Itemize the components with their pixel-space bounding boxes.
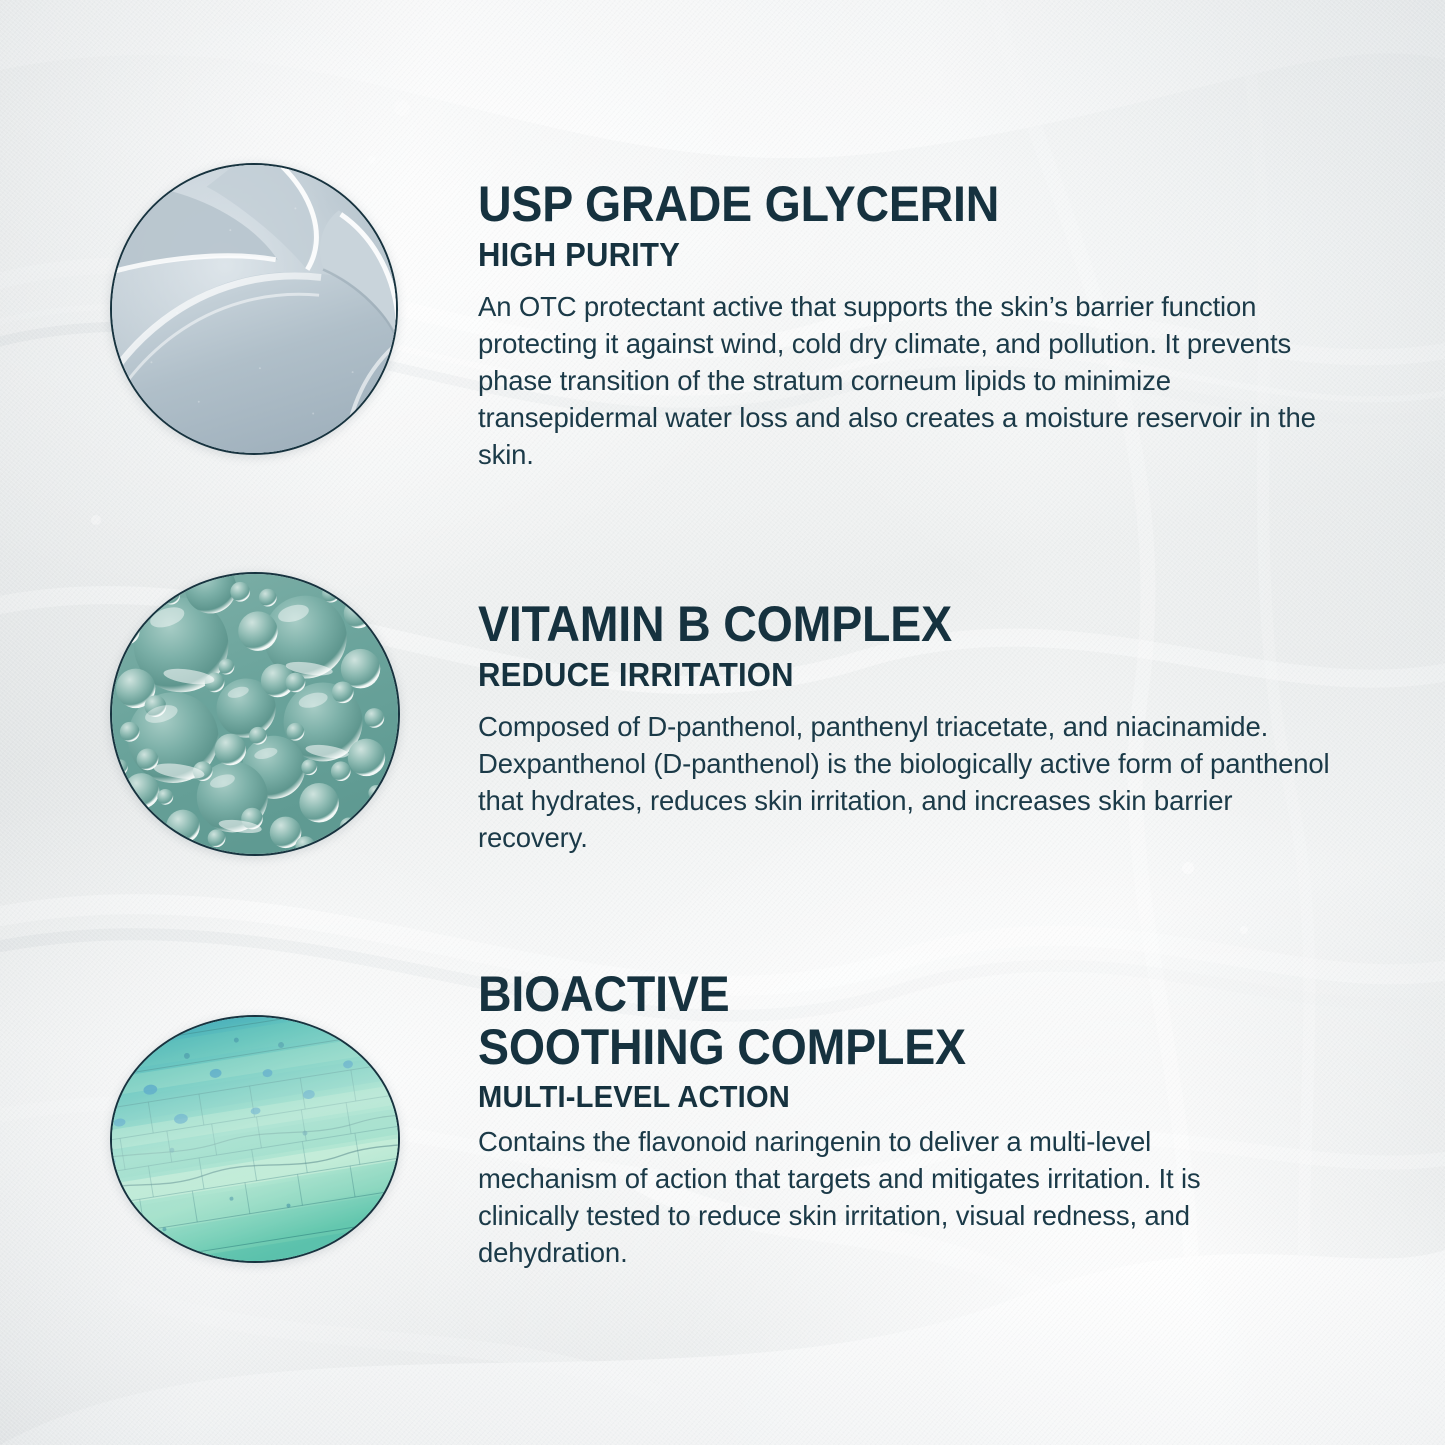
section-glycerin: USP GRADE GLYCERIN HIGH PURITY An OTC pr… [478, 178, 1338, 474]
section-title: VITAMIN B COMPLEX [478, 598, 1296, 650]
teal-bubbles-swatch [110, 572, 400, 856]
section-body: Composed of D-panthenol, panthenyl triac… [478, 708, 1340, 857]
section-body: An OTC protectant active that supports t… [478, 288, 1316, 474]
section-bioactive: BIOACTIVE SOOTHING COMPLEX MULTI-LEVEL A… [478, 968, 1318, 1271]
infographic-canvas: USP GRADE GLYCERIN HIGH PURITY An OTC pr… [0, 0, 1445, 1445]
section-title: BIOACTIVE SOOTHING COMPLEX [478, 968, 1259, 1074]
section-title: USP GRADE GLYCERIN [478, 178, 1278, 230]
section-subtitle: REDUCE IRRITATION [478, 657, 1305, 694]
plant-tissue-microscopy-swatch [110, 1015, 400, 1263]
section-body: Contains the flavonoid naringenin to del… [478, 1123, 1268, 1272]
section-subtitle: HIGH PURITY [478, 237, 1286, 274]
glycerin-droplets-swatch [110, 163, 398, 455]
section-subtitle: MULTI-LEVEL ACTION [478, 1080, 1268, 1115]
section-vitamin-b: VITAMIN B COMPLEX REDUCE IRRITATION Comp… [478, 598, 1358, 856]
